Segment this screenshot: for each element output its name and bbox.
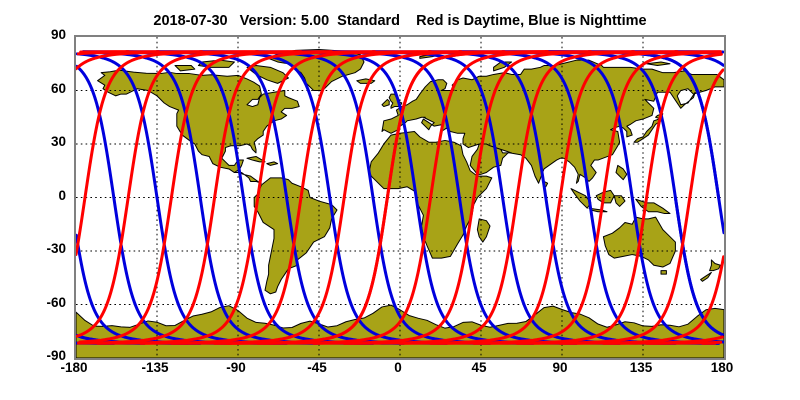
x-tick-label: -135: [115, 361, 195, 375]
y-tick-label: 30: [0, 135, 66, 149]
ground-track-figure: 2018-07-30 Version: 5.00 Standard Red is…: [0, 0, 800, 400]
x-tick-label: 45: [439, 361, 519, 375]
landmass: [661, 271, 666, 275]
x-tick-label: -45: [277, 361, 357, 375]
y-tick-label: 60: [0, 82, 66, 96]
x-tick-label: 90: [520, 361, 600, 375]
x-tick-label: 180: [682, 361, 762, 375]
world-map-svg: [76, 37, 724, 358]
y-tick-label: 0: [0, 189, 66, 203]
x-tick-label: -180: [34, 361, 114, 375]
x-tick-label: 135: [601, 361, 681, 375]
y-tick-label: 90: [0, 28, 66, 42]
y-tick-label: -30: [0, 242, 66, 256]
x-tick-label: -90: [196, 361, 276, 375]
plot-area: [74, 35, 726, 360]
x-tick-label: 0: [358, 361, 438, 375]
chart-title: 2018-07-30 Version: 5.00 Standard Red is…: [0, 13, 800, 29]
y-tick-label: -60: [0, 296, 66, 310]
